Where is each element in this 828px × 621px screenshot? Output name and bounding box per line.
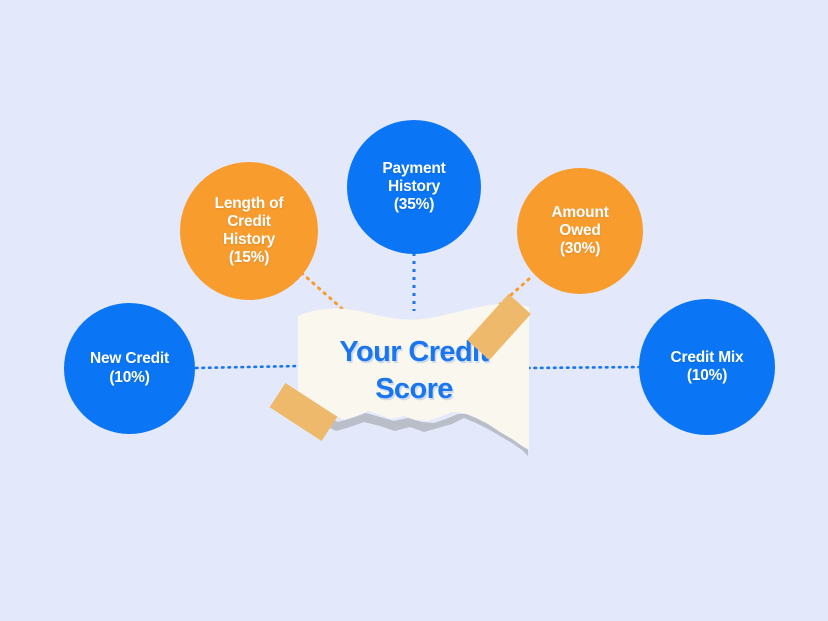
node-payment-history[interactable]: Payment History (35%) (347, 120, 481, 254)
node-amount-owed[interactable]: Amount Owed (30%) (517, 168, 643, 294)
node-credit-mix-label: Credit Mix (10%) (665, 349, 750, 385)
node-credit-mix[interactable]: Credit Mix (10%) (639, 299, 775, 435)
node-length-of-credit-history-label: Length of Credit History (15%) (209, 195, 290, 268)
connector-new-credit (196, 366, 300, 368)
node-new-credit-label: New Credit (10%) (84, 350, 175, 386)
node-new-credit[interactable]: New Credit (10%) (64, 303, 195, 434)
connector-credit-mix (528, 367, 640, 368)
node-length-of-credit-history[interactable]: Length of Credit History (15%) (180, 162, 318, 300)
node-payment-history-label: Payment History (35%) (376, 160, 451, 214)
credit-score-infographic: Payment History (35%) Length of Credit H… (0, 0, 828, 621)
node-amount-owed-label: Amount Owed (30%) (545, 204, 614, 258)
